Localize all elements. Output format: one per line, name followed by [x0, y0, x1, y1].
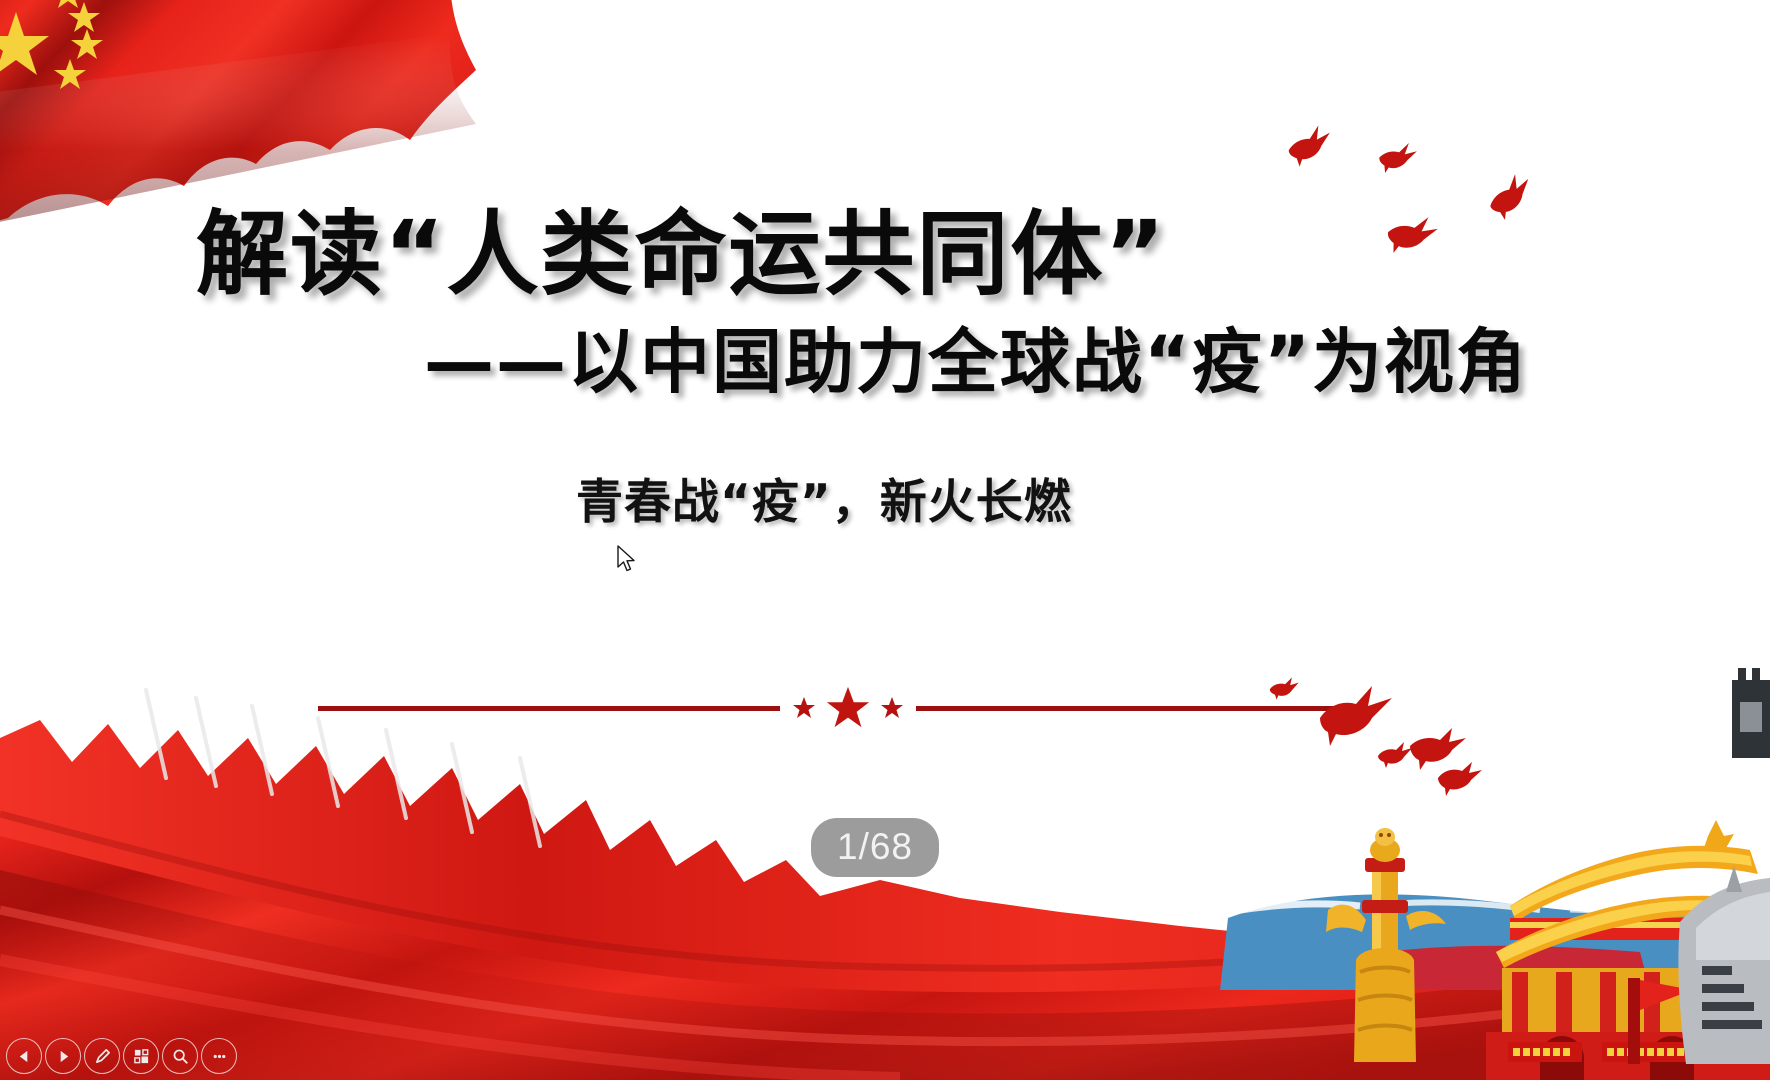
- next-slide-button[interactable]: [45, 1038, 81, 1074]
- slide-subtitle: ——以中国助力全球战“疫”为视角: [0, 324, 1770, 401]
- naval-ship: [1678, 866, 1770, 1064]
- triangle-right-icon: [56, 1049, 71, 1064]
- dove-icon: [1280, 122, 1337, 171]
- tower-block: [1732, 668, 1770, 758]
- china-flag-decoration: [0, 0, 500, 234]
- magnifier-icon: [172, 1048, 189, 1065]
- title-block: 解读“人类命运共同体” ——以中国助力全球战“疫”为视角 青春战“疫”，新火长燃: [0, 206, 1770, 532]
- dove-icon: [1373, 138, 1421, 178]
- grid-overview-icon: [133, 1048, 150, 1065]
- presentation-slide: 解读“人类命运共同体” ——以中国助力全球战“疫”为视角 青春战“疫”，新火长燃: [0, 0, 1770, 1080]
- triangle-left-icon: [17, 1049, 32, 1064]
- slide-title: 解读“人类命运共同体”: [0, 206, 1770, 304]
- more-options-button[interactable]: [201, 1038, 237, 1074]
- pen-icon: [94, 1048, 111, 1065]
- dove-icon: [1270, 678, 1482, 797]
- slideshow-toolbar[interactable]: [6, 1038, 237, 1074]
- overview-button[interactable]: [123, 1038, 159, 1074]
- zoom-button[interactable]: [162, 1038, 198, 1074]
- ellipsis-icon: [211, 1048, 228, 1065]
- annotate-button[interactable]: [84, 1038, 120, 1074]
- mouse-cursor: [616, 545, 638, 575]
- tiananmen-illustration: [1210, 660, 1770, 1080]
- slide-tagline: 青春战“疫”，新火长燃: [0, 463, 1770, 532]
- previous-slide-button[interactable]: [6, 1038, 42, 1074]
- page-indicator-badge: 1/68: [811, 818, 939, 877]
